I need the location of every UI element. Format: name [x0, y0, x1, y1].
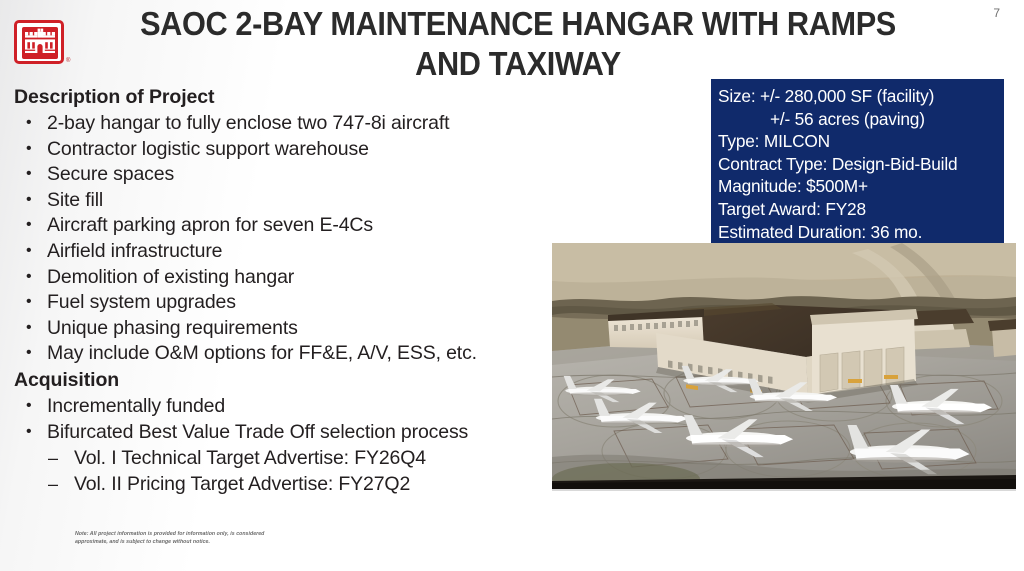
description-bullet-list: 2-bay hangar to fully enclose two 747-8i…: [14, 111, 559, 367]
list-item: Site fill: [14, 188, 559, 214]
list-item: Aircraft parking apron for seven E-4Cs: [14, 213, 559, 239]
fact-size-paving: +/- 56 acres (paving): [718, 108, 1004, 131]
fact-estimated-duration: Estimated Duration: 36 mo.: [718, 221, 1004, 244]
presentation-slide: ® 7 SAOC 2-BAY MAINTENANCE HANGAR WITH R…: [0, 0, 1024, 571]
fact-size: Size: +/- 280,000 SF (facility): [718, 85, 1004, 108]
logo-frame: [14, 20, 64, 64]
acquisition-bullet-list: Incrementally funded Bifurcated Best Val…: [14, 394, 559, 497]
fact-magnitude: Magnitude: $500M+: [718, 175, 1004, 198]
fact-contract-type: Contract Type: Design-Bid-Build: [718, 153, 1004, 176]
description-heading: Description of Project: [14, 84, 559, 110]
fact-target-award: Target Award: FY28: [718, 198, 1004, 221]
list-item: May include O&M options for FF&E, A/V, E…: [14, 341, 559, 367]
list-item: Bifurcated Best Value Trade Off selectio…: [14, 420, 559, 446]
castle-glyph: [22, 27, 58, 59]
sub-list-item: Vol. I Technical Target Advertise: FY26Q…: [14, 445, 559, 471]
footnote-disclaimer: Note: All project information is provide…: [75, 531, 290, 546]
list-item: Fuel system upgrades: [14, 290, 559, 316]
list-item: Contractor logistic support warehouse: [14, 137, 559, 163]
list-item: Airfield infrastructure: [14, 239, 559, 265]
rendering-illustration: [552, 243, 1016, 489]
list-item: 2-bay hangar to fully enclose two 747-8i…: [14, 111, 559, 137]
acquisition-heading: Acquisition: [14, 367, 559, 393]
page-title: SAOC 2-BAY MAINTENANCE HANGAR WITH RAMPS…: [109, 4, 927, 84]
list-item: Demolition of existing hangar: [14, 265, 559, 291]
registered-mark: ®: [66, 58, 70, 64]
fact-type: Type: MILCON: [718, 130, 1004, 153]
sub-list-item: Vol. II Pricing Target Advertise: FY27Q2: [14, 471, 559, 497]
list-item: Incrementally funded: [14, 394, 559, 420]
page-number: 7: [993, 6, 1000, 20]
us-army-corps-of-engineers-castle-logo: ®: [14, 20, 70, 68]
project-facts-box: Size: +/- 280,000 SF (facility) +/- 56 a…: [711, 79, 1004, 246]
aerial-rendering-of-hangar-and-apron: [552, 243, 1016, 491]
castle-icon: [22, 27, 58, 59]
body-content: Description of Project 2-bay hangar to f…: [14, 84, 559, 497]
list-item: Unique phasing requirements: [14, 316, 559, 342]
list-item: Secure spaces: [14, 162, 559, 188]
